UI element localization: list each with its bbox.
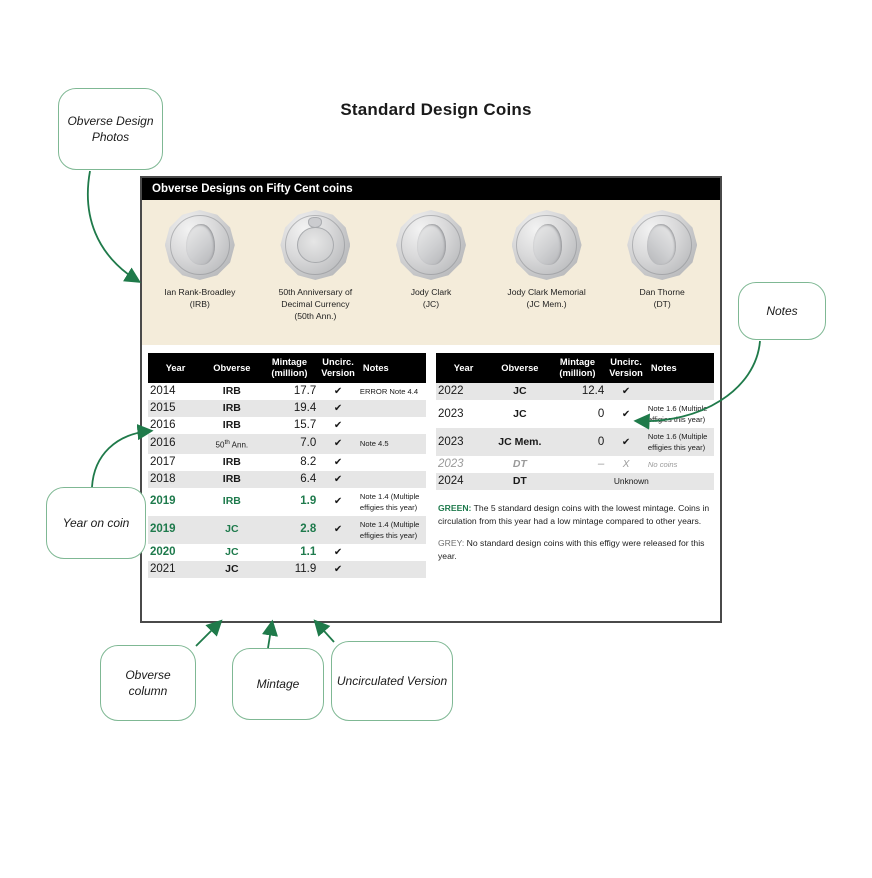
cell-mintage: 7.0 xyxy=(261,434,319,454)
cell-year: 2016 xyxy=(148,434,203,454)
th-notes: Notes xyxy=(358,353,426,383)
cell-notes: Note 4.5 xyxy=(358,434,426,454)
cell-year: 2015 xyxy=(148,400,203,417)
cell-obverse: JC xyxy=(203,561,261,578)
cell-obverse: JC xyxy=(203,544,261,561)
cell-mintage: 11.9 xyxy=(261,561,319,578)
th-mintage: Mintage (million) xyxy=(549,353,607,383)
th-uncirc: Uncirc. Version xyxy=(318,353,358,383)
table-row: 2020JC1.1✔ xyxy=(148,544,426,561)
cell-uncirc-version: ✔ xyxy=(318,417,358,434)
coin-caption-name: Dan Thorne xyxy=(606,286,718,298)
cell-obverse: JC xyxy=(491,400,549,428)
cell-obverse: IRB xyxy=(203,383,261,400)
cell-year: 2016 xyxy=(148,417,203,434)
cell-year: 2020 xyxy=(148,544,203,561)
cell-notes: Note 1.4 (Multiple effigies this year) xyxy=(358,488,426,516)
cell-notes xyxy=(358,400,426,417)
cell-mintage: 19.4 xyxy=(261,400,319,417)
cell-obverse: IRB xyxy=(203,488,261,516)
th-mintage-line1: Mintage xyxy=(560,357,595,367)
cell-notes xyxy=(646,383,714,400)
cell-notes xyxy=(358,544,426,561)
cell-notes: Note 1.6 (Multiple effigies this year) xyxy=(646,400,714,428)
cell-obverse: DT xyxy=(491,473,549,490)
cell-mintage: 0 xyxy=(549,428,607,456)
cell-mintage: 2.8 xyxy=(261,516,319,544)
table-row: 2019IRB1.9✔Note 1.4 (Multiple effigies t… xyxy=(148,488,426,516)
cell-mintage: – xyxy=(549,456,607,473)
coin-caption-name: Jody Clark xyxy=(375,286,487,298)
th-year: Year xyxy=(148,353,203,383)
cell-year: 2024 xyxy=(436,473,491,490)
legend-green-text: The 5 standard design coins with the low… xyxy=(438,503,709,526)
cell-year: 2018 xyxy=(148,471,203,488)
cell-uncirc-version: ✔ xyxy=(318,383,358,400)
left-table-body: 2014IRB17.7✔ERROR Note 4.42015IRB19.4✔20… xyxy=(148,383,426,578)
cell-uncirc-version: ✔ xyxy=(318,400,358,417)
coin-caption-name: Jody Clark Memorial xyxy=(491,286,603,298)
table-row: 2018IRB6.4✔ xyxy=(148,471,426,488)
callout-obverse-column: Obverse column xyxy=(100,645,196,721)
coin-caption-abbrev: Decimal Currency xyxy=(260,298,372,310)
callout-mintage: Mintage xyxy=(232,648,324,720)
cell-obverse: JC Mem. xyxy=(491,428,549,456)
coin-caption-abbrev: (DT) xyxy=(606,298,718,310)
obverse-ordinal-suffix: th xyxy=(224,439,229,446)
arrow-obverse-photos xyxy=(88,171,138,281)
cell-mintage: 1.9 xyxy=(261,488,319,516)
legend-grey: GREY: No standard design coins with this… xyxy=(438,537,710,562)
cell-notes xyxy=(358,454,426,471)
mintage-table-left: Year Obverse Mintage (million) Uncirc. V… xyxy=(148,353,426,578)
arrow-obverse-column xyxy=(196,622,220,646)
cell-uncirc-version: ✔ xyxy=(318,561,358,578)
cell-obverse: IRB xyxy=(203,454,261,471)
callout-notes: Notes xyxy=(738,282,826,340)
cell-obverse: IRB xyxy=(203,400,261,417)
cell-year: 2023 xyxy=(436,400,491,428)
arrow-uncirculated xyxy=(316,622,334,642)
th-mintage-line2: (million) xyxy=(559,368,595,378)
table-row: 2015IRB19.4✔ xyxy=(148,400,426,417)
cell-uncirc-version: ✔ xyxy=(606,383,646,400)
cell-mintage: 8.2 xyxy=(261,454,319,471)
table-header-row: Year Obverse Mintage (million) Uncirc. V… xyxy=(436,353,714,383)
cell-obverse: DT xyxy=(491,456,549,473)
cell-mintage: Unknown xyxy=(549,473,714,490)
left-table-column: Year Obverse Mintage (million) Uncirc. V… xyxy=(148,353,426,578)
cell-notes: No coins xyxy=(646,456,714,473)
coin-jc-icon xyxy=(396,210,466,280)
cell-uncirc-version: ✔ xyxy=(318,544,358,561)
cell-notes: ERROR Note 4.4 xyxy=(358,383,426,400)
th-notes: Notes xyxy=(646,353,714,383)
cell-uncirc-version: ✔ xyxy=(318,516,358,544)
callout-year-on-coin: Year on coin xyxy=(46,487,146,559)
cell-mintage: 1.1 xyxy=(261,544,319,561)
table-row: 2019JC2.8✔Note 1.4 (Multiple effigies th… xyxy=(148,516,426,544)
coin-caption-abbrev: (JC Mem.) xyxy=(491,298,603,310)
cell-year: 2019 xyxy=(148,488,203,516)
cell-notes xyxy=(358,471,426,488)
cell-year: 2017 xyxy=(148,454,203,471)
callout-uncirculated-version: Uncirculated Version xyxy=(331,641,453,721)
coin-caption-name: Ian Rank-Broadley xyxy=(144,286,256,298)
table-row: 2023DT–XNo coins xyxy=(436,456,714,473)
table-row: 2014IRB17.7✔ERROR Note 4.4 xyxy=(148,383,426,400)
coin-caption-extra: (50th Ann.) xyxy=(260,310,372,322)
mintage-table-right: Year Obverse Mintage (million) Uncirc. V… xyxy=(436,353,714,490)
cell-uncirc-version: ✔ xyxy=(318,488,358,516)
cell-mintage: 0 xyxy=(549,400,607,428)
legend-green: GREEN: The 5 standard design coins with … xyxy=(438,502,710,527)
coin-caption-abbrev: (IRB) xyxy=(144,298,256,310)
obverse-designs-header: Obverse Designs on Fifty Cent coins xyxy=(142,178,720,200)
th-uncirc-line2: Version xyxy=(321,368,355,378)
cell-obverse: 50th Ann. xyxy=(203,434,261,454)
cell-year: 2022 xyxy=(436,383,491,400)
coin-item-jc: Jody Clark (JC) xyxy=(373,210,489,310)
cell-mintage: 12.4 xyxy=(549,383,607,400)
th-mintage-line1: Mintage xyxy=(272,357,307,367)
th-uncirc: Uncirc. Version xyxy=(606,353,646,383)
table-row: 2016IRB15.7✔ xyxy=(148,417,426,434)
cell-year: 2014 xyxy=(148,383,203,400)
cell-uncirc-version: ✔ xyxy=(606,400,646,428)
legend-green-label: GREEN: xyxy=(438,503,471,513)
cell-uncirc-version: ✔ xyxy=(606,428,646,456)
cell-uncirc-version: X xyxy=(606,456,646,473)
coin-caption-name: 50th Anniversary of xyxy=(260,286,372,298)
table-row: 2022JC12.4✔ xyxy=(436,383,714,400)
arrow-mintage xyxy=(268,623,272,648)
cell-year: 2021 xyxy=(148,561,203,578)
th-uncirc-line1: Uncirc. xyxy=(322,357,354,367)
cell-mintage: 17.7 xyxy=(261,383,319,400)
cell-notes xyxy=(358,417,426,434)
table-row: 2021JC11.9✔ xyxy=(148,561,426,578)
table-row: 2023JC Mem.0✔Note 1.6 (Multiple effigies… xyxy=(436,428,714,456)
standard-design-coins-panel: Obverse Designs on Fifty Cent coins Ian … xyxy=(140,176,722,623)
callout-obverse-design-photos: Obverse Design Photos xyxy=(58,88,163,170)
th-mintage: Mintage (million) xyxy=(261,353,319,383)
colour-legend: GREEN: The 5 standard design coins with … xyxy=(436,502,714,562)
cell-uncirc-version: ✔ xyxy=(318,434,358,454)
coin-irb-icon xyxy=(165,210,235,280)
cell-uncirc-version: ✔ xyxy=(318,454,358,471)
coin-item-jc-mem: Jody Clark Memorial (JC Mem.) xyxy=(489,210,605,310)
th-obverse: Obverse xyxy=(203,353,261,383)
cell-notes xyxy=(358,561,426,578)
legend-grey-label: GREY: xyxy=(438,538,464,548)
cell-uncirc-version: ✔ xyxy=(318,471,358,488)
th-uncirc-line1: Uncirc. xyxy=(610,357,642,367)
coin-50th-ann-icon xyxy=(280,210,350,280)
obverse-coin-strip: Ian Rank-Broadley (IRB) 50th Anniversary… xyxy=(142,200,720,345)
table-row: 201650th Ann.7.0✔Note 4.5 xyxy=(148,434,426,454)
mintage-tables-area: Year Obverse Mintage (million) Uncirc. V… xyxy=(142,345,720,578)
th-year: Year xyxy=(436,353,491,383)
coin-jc-mem-icon xyxy=(512,210,582,280)
th-uncirc-line2: Version xyxy=(609,368,643,378)
cell-mintage: 6.4 xyxy=(261,471,319,488)
th-mintage-line2: (million) xyxy=(271,368,307,378)
coin-item-dt: Dan Thorne (DT) xyxy=(604,210,720,310)
cell-notes: Note 1.6 (Multiple effigies this year) xyxy=(646,428,714,456)
cell-year: 2019 xyxy=(148,516,203,544)
coin-caption-abbrev: (JC) xyxy=(375,298,487,310)
right-table-body: 2022JC12.4✔2023JC0✔Note 1.6 (Multiple ef… xyxy=(436,383,714,490)
table-row: 2017IRB8.2✔ xyxy=(148,454,426,471)
cell-mintage: 15.7 xyxy=(261,417,319,434)
coin-item-50th-ann: 50th Anniversary of Decimal Currency (50… xyxy=(258,210,374,322)
cell-obverse: JC xyxy=(203,516,261,544)
coin-item-irb: Ian Rank-Broadley (IRB) xyxy=(142,210,258,310)
cell-year: 2023 xyxy=(436,428,491,456)
table-header-row: Year Obverse Mintage (million) Uncirc. V… xyxy=(148,353,426,383)
right-table-column: Year Obverse Mintage (million) Uncirc. V… xyxy=(436,353,714,578)
cell-obverse: IRB xyxy=(203,417,261,434)
coin-dt-icon xyxy=(627,210,697,280)
cell-obverse: IRB xyxy=(203,471,261,488)
cell-year: 2023 xyxy=(436,456,491,473)
table-row: 2023JC0✔Note 1.6 (Multiple effigies this… xyxy=(436,400,714,428)
cell-obverse: JC xyxy=(491,383,549,400)
table-row: 2024DTUnknown xyxy=(436,473,714,490)
legend-grey-text: No standard design coins with this effig… xyxy=(438,538,704,561)
cell-notes: Note 1.4 (Multiple effigies this year) xyxy=(358,516,426,544)
th-obverse: Obverse xyxy=(491,353,549,383)
